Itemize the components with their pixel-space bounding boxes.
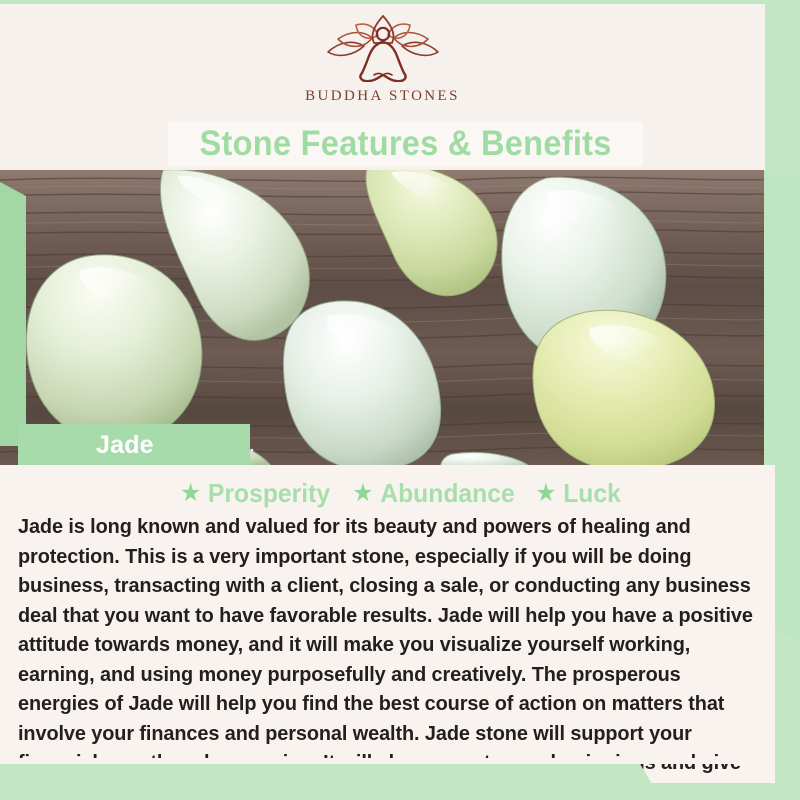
bottom-accent-band xyxy=(0,764,640,800)
infographic-card: BUDDHA STONES Stone Features & Benefits xyxy=(0,0,800,800)
accent-rail-left xyxy=(0,196,26,446)
jade-stones-photo xyxy=(0,170,800,465)
title-banner: Stone Features & Benefits xyxy=(168,122,643,166)
description-paragraph: Jade is long known and valued for its be… xyxy=(18,512,761,800)
lotus-meditation-icon xyxy=(320,12,446,82)
stone-name-label: Jade xyxy=(96,431,154,460)
brand-logo-block: BUDDHA STONES xyxy=(0,12,765,105)
stone-name-bar: Jade xyxy=(18,424,250,466)
page-title: Stone Features & Benefits xyxy=(199,124,611,164)
brand-name: BUDDHA STONES xyxy=(305,88,460,105)
